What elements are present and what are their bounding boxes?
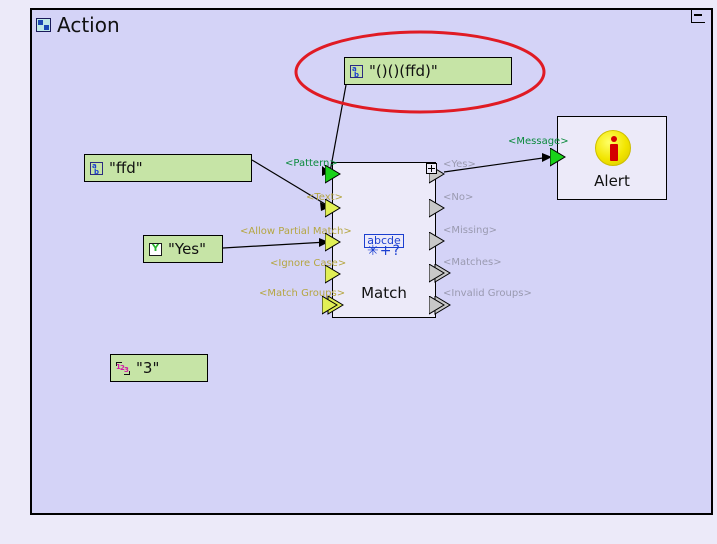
alert-node[interactable]: Alert bbox=[557, 116, 667, 200]
string-icon: ab bbox=[350, 65, 363, 78]
window-title-bar: Action bbox=[36, 12, 120, 38]
port-label-invalid-groups: <Invalid Groups> bbox=[443, 288, 532, 299]
port-invalid-groups[interactable] bbox=[429, 296, 455, 316]
port-label-message: <Message> bbox=[508, 136, 569, 147]
match-node-symbols: ✳+? bbox=[333, 244, 435, 258]
minimize-button[interactable] bbox=[691, 10, 705, 23]
port-matches[interactable] bbox=[429, 264, 455, 284]
port-message[interactable] bbox=[550, 148, 570, 168]
info-icon bbox=[595, 130, 631, 166]
action-icon bbox=[36, 18, 51, 32]
port-pattern[interactable] bbox=[325, 165, 345, 185]
port-label-missing: <Missing> bbox=[443, 225, 497, 236]
port-match-groups[interactable] bbox=[322, 296, 348, 316]
text-literal[interactable]: ab "ffd" bbox=[84, 154, 252, 182]
alert-node-title: Alert bbox=[558, 172, 666, 190]
match-node-title: Match bbox=[333, 284, 435, 302]
allow-partial-match-literal[interactable]: Y "Yes" bbox=[143, 235, 223, 263]
boolean-icon: Y bbox=[149, 243, 162, 256]
port-text[interactable] bbox=[325, 199, 345, 219]
match-node[interactable]: abcde ✳+? Match bbox=[332, 162, 436, 318]
screenshot-root: Action ab "()()(ffd)" ab "ffd" Y "Yes" 1… bbox=[0, 0, 717, 544]
number-literal[interactable]: 123 "3" bbox=[110, 354, 208, 382]
number-icon: 123 bbox=[116, 362, 130, 375]
port-no[interactable] bbox=[429, 199, 449, 219]
port-ignore-case[interactable] bbox=[325, 265, 345, 285]
pattern-literal-value: "()()(ffd)" bbox=[369, 62, 438, 80]
number-literal-value: "3" bbox=[136, 359, 159, 377]
port-allow-partial-match[interactable] bbox=[325, 233, 345, 253]
yes-expander-button[interactable] bbox=[426, 163, 437, 174]
string-icon: ab bbox=[90, 162, 103, 175]
text-literal-value: "ffd" bbox=[109, 159, 143, 177]
allow-partial-match-literal-value: "Yes" bbox=[168, 240, 206, 258]
port-missing[interactable] bbox=[429, 232, 449, 252]
page-title: Action bbox=[57, 15, 120, 35]
pattern-literal[interactable]: ab "()()(ffd)" bbox=[344, 57, 512, 85]
